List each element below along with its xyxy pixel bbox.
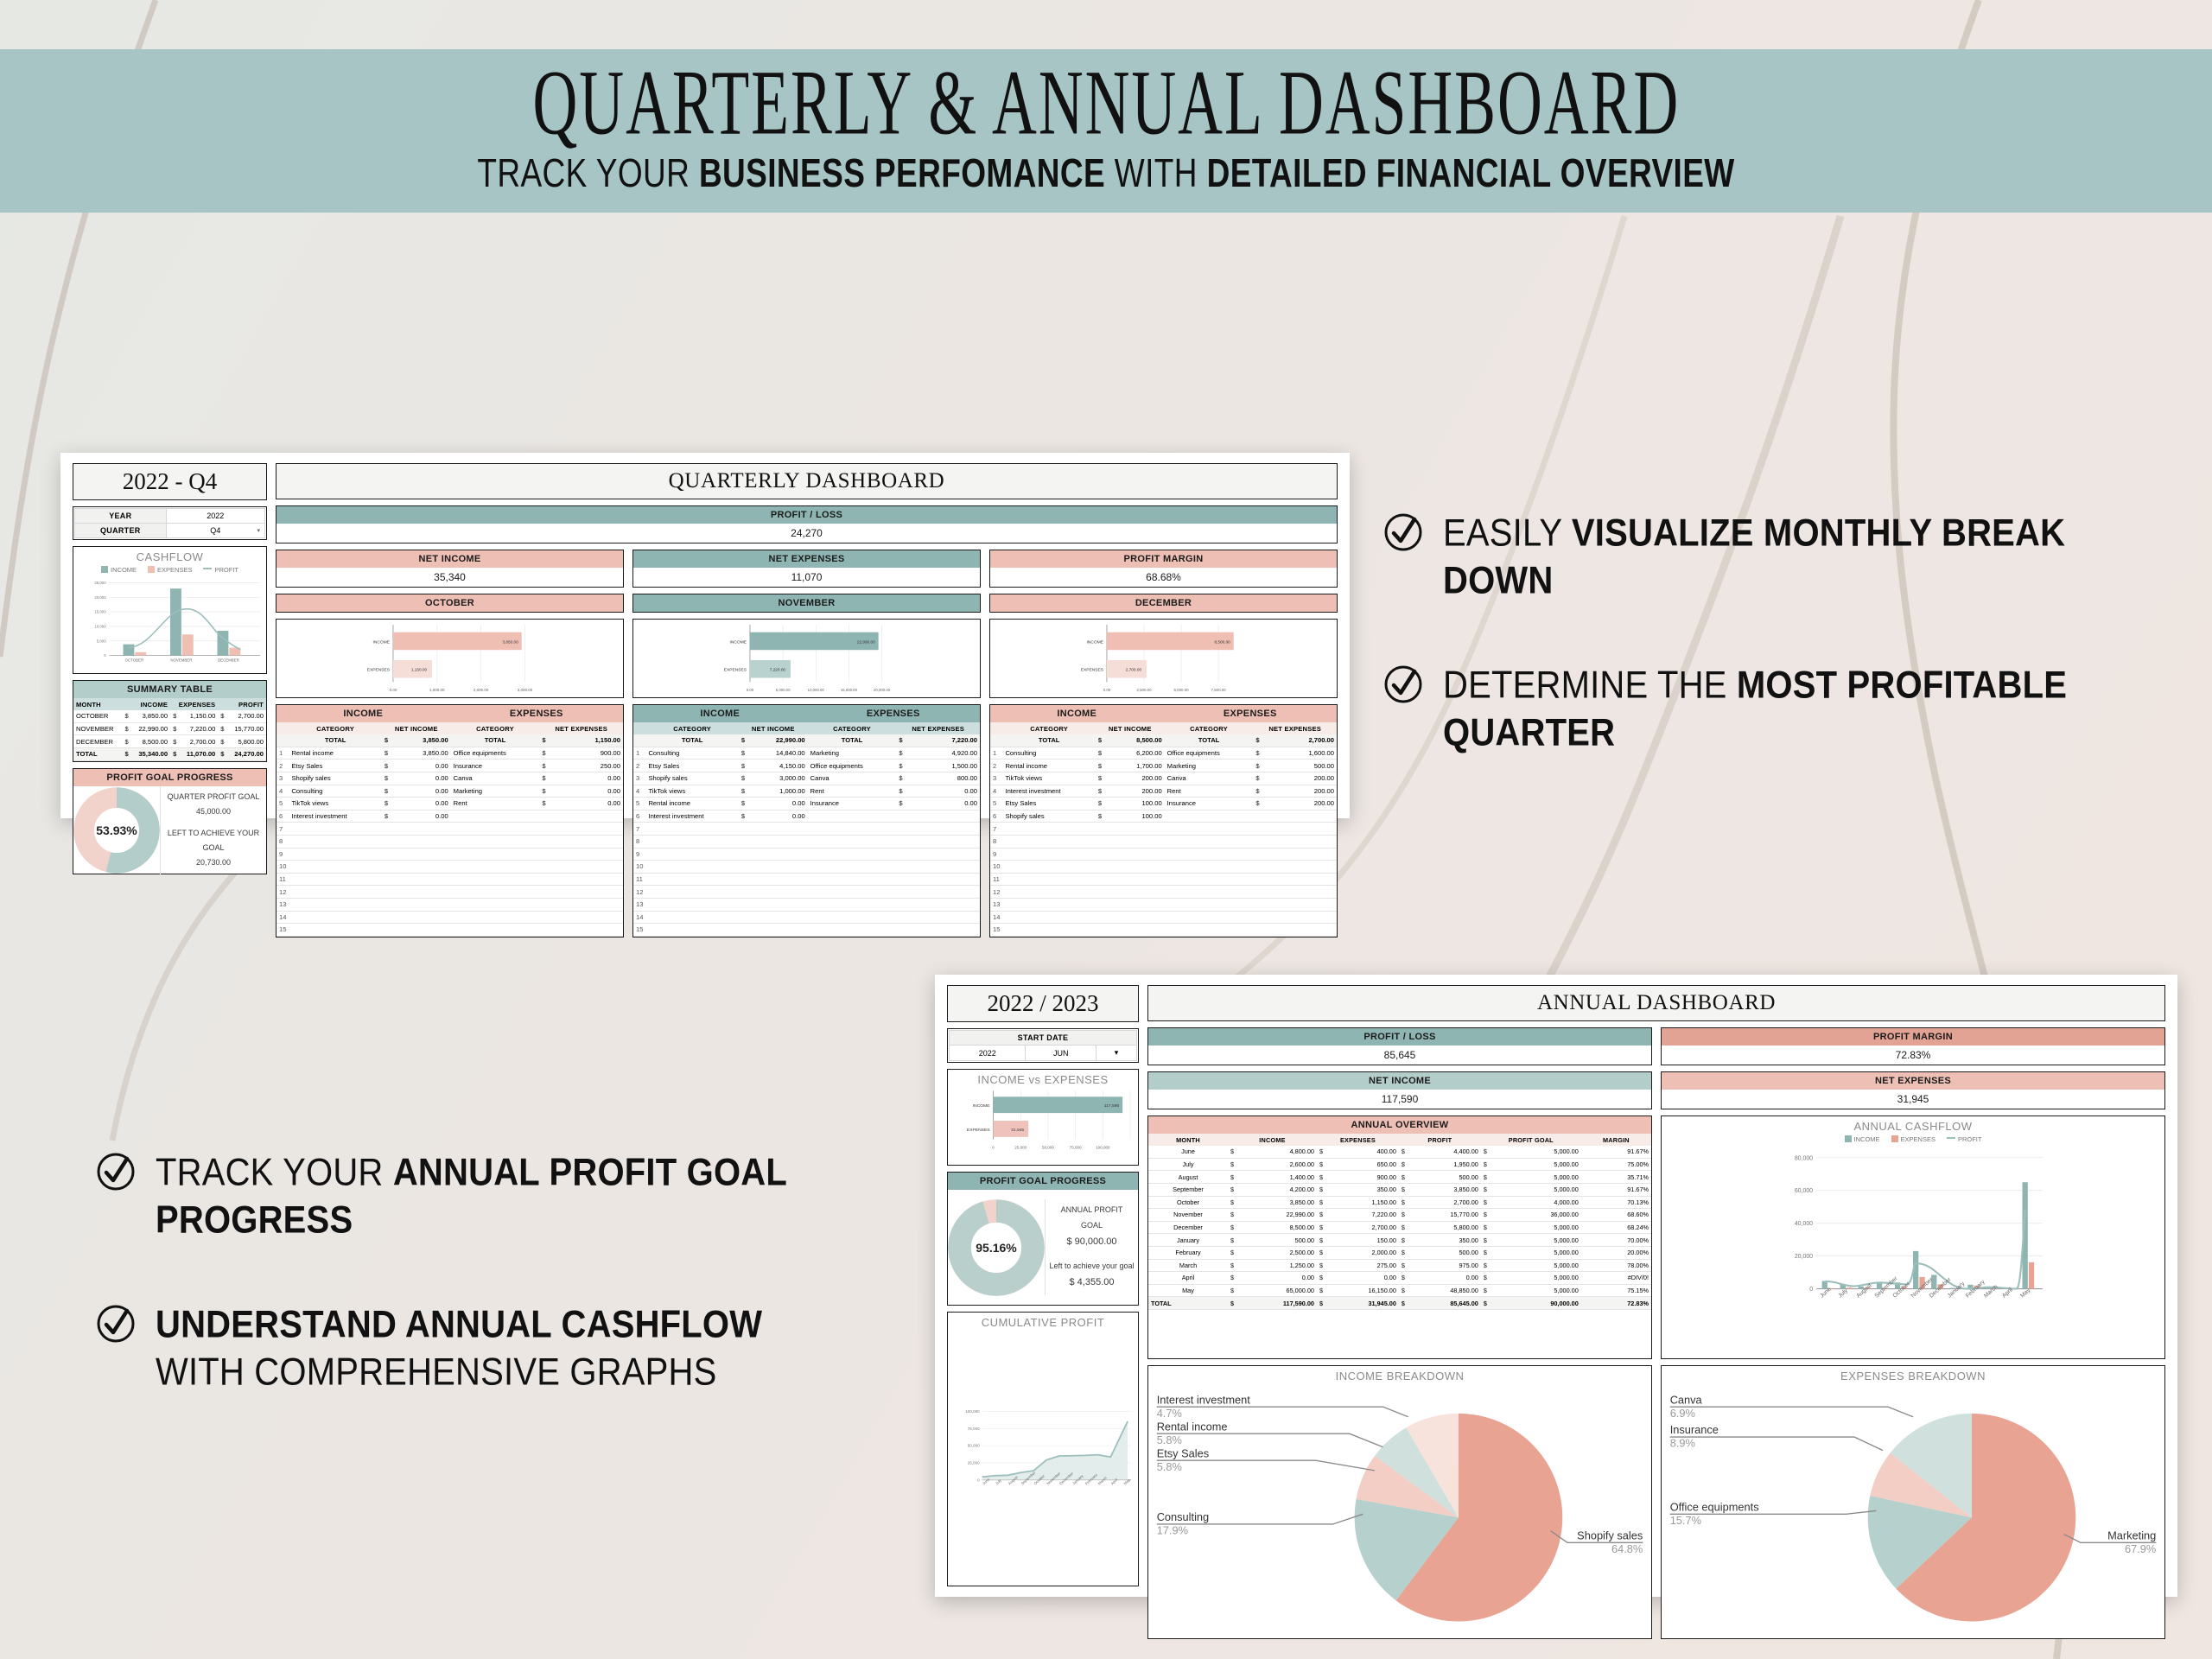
table-row: 8 [276, 835, 623, 848]
left-label: LEFT TO ACHIEVE YOUR GOAL [164, 826, 263, 855]
bullet-text: EASILY VISUALIZE MONTHLY BREAK DOWN [1443, 510, 2160, 604]
table-row: 13 [990, 898, 1337, 911]
income-header: INCOME [276, 705, 450, 722]
svg-text:5,000.00: 5,000.00 [1173, 688, 1189, 692]
annual-kpi-profit-loss-label: PROFIT / LOSS [1148, 1028, 1651, 1046]
table-row: 15 [276, 924, 623, 937]
kpi-net-income-label: NET INCOME [276, 550, 623, 568]
svg-text:10,000.00: 10,000.00 [808, 688, 825, 692]
bullet-profitable-quarter: DETERMINE THE MOST PROFITABLE QUARTER [1382, 662, 2160, 747]
table-row: 10 [633, 861, 980, 874]
annual-profit-goal-progress: PROFIT GOAL PROGRESS 95.16% ANNUAL PROFI… [947, 1172, 1139, 1306]
svg-text:0: 0 [104, 653, 106, 658]
svg-text:4.7%: 4.7% [1157, 1407, 1182, 1420]
pie-label-rental: Rental income [1157, 1420, 1228, 1433]
svg-text:0.00: 0.00 [1103, 688, 1111, 692]
pie-label-marketing: Marketing [2107, 1529, 2156, 1541]
annual-kpi-profit-loss-value: 85,645 [1148, 1046, 1651, 1065]
svg-text:5.8%: 5.8% [1157, 1460, 1182, 1473]
svg-text:7,220.00: 7,220.00 [770, 668, 786, 672]
annual-dashboard-panel: 2022 / 2023 START DATE 2022 JUN ▾ INCOME… [935, 975, 2177, 1597]
page-subtitle: TRACK YOUR BUSINESS PERFOMANCE WITH DETA… [477, 150, 1734, 196]
table-row: October$3,850.00$1,150.00$2,700.00$4,000… [1148, 1196, 1651, 1209]
november-bar-chart: INCOME EXPENSES 22,990.00 7,220.00 0.005… [632, 619, 981, 698]
table-row: 6Interest investment$0.00 [276, 810, 623, 823]
annual-left-value: $ 4,355.00 [1049, 1274, 1135, 1292]
table-row: OCTOBER $3,850.00 $1,150.00 $2,700.00 [73, 710, 266, 722]
legend-expenses: EXPENSES [148, 566, 192, 574]
annual-profit-goal-title: PROFIT GOAL PROGRESS [948, 1173, 1138, 1190]
kpi-profit-loss-value: 24,270 [276, 524, 1337, 543]
kpi-profit-loss: PROFIT / LOSS 24,270 [276, 505, 1338, 543]
bullet-visualize-monthly: EASILY VISUALIZE MONTHLY BREAK DOWN [1382, 510, 2160, 594]
income-header: INCOME [990, 705, 1164, 722]
bullet-text: TRACK YOUR ANNUAL PROFIT GOAL PROGRESS [156, 1149, 855, 1243]
profit-goal-percent: 53.93% [94, 808, 139, 853]
start-year-value[interactable]: 2022 [950, 1046, 1026, 1061]
month-detail-grid: CATEGORYNET INCOME CATEGORYNET EXPENSES … [633, 722, 980, 937]
table-row: May$65,000.00$16,150.00$48,850.00$5,000.… [1148, 1284, 1651, 1297]
svg-text:20,000.00: 20,000.00 [874, 688, 891, 692]
annual-goal-label: ANNUAL PROFIT GOAL [1049, 1203, 1135, 1232]
bullet-text: UNDERSTAND ANNUAL CASHFLOW WITH COMPREHE… [156, 1301, 855, 1395]
kpi-profit-margin-label: PROFIT MARGIN [990, 550, 1337, 568]
income-breakdown-title: INCOME BREAKDOWN [1148, 1366, 1651, 1382]
expenses-breakdown-chart: EXPENSES BREAKDOWN [1661, 1365, 2165, 1639]
table-row: DECEMBER $8,500.00 $2,700.00 $5,800.00 [73, 735, 266, 748]
kpi-net-income-value: 35,340 [276, 568, 623, 587]
table-row: 14 [276, 911, 623, 924]
col-expenses: EXPENSES [170, 698, 218, 710]
svg-text:20,000: 20,000 [1795, 1254, 1813, 1260]
quarter-value[interactable]: Q4 ▾ [166, 524, 264, 538]
annual-kpi-net-expenses-label: NET EXPENSES [1662, 1072, 2164, 1090]
table-row: March$1,250.00$275.00$975.00$5,000.0078.… [1148, 1259, 1651, 1272]
chevron-down-icon[interactable]: ▾ [1096, 1046, 1137, 1061]
kpi-net-income: NET INCOME 35,340 [276, 550, 624, 588]
expenses-breakdown-title: EXPENSES BREAKDOWN [1662, 1366, 2164, 1382]
table-row: 12 [276, 886, 623, 899]
feature-bullets-left: TRACK YOUR ANNUAL PROFIT GOAL PROGRESS U… [95, 1149, 855, 1433]
table-row: August$1,400.00$900.00$500.00$5,000.0035… [1148, 1171, 1651, 1184]
svg-text:50,000: 50,000 [1042, 1146, 1054, 1150]
quarterly-profit-goal-progress: PROFIT GOAL PROGRESS 53.93% QUARTER PROF… [73, 768, 267, 874]
svg-text:64.8%: 64.8% [1611, 1542, 1643, 1555]
annual-goal-value: $ 90,000.00 [1049, 1233, 1135, 1251]
svg-text:25,000: 25,000 [1014, 1146, 1027, 1150]
svg-text:31,945: 31,945 [1011, 1128, 1024, 1133]
annual-overview-grid: MONTH INCOME EXPENSES PROFIT PROFIT GOAL… [1148, 1134, 1651, 1310]
summary-table-grid: MONTH INCOME EXPENSES PROFIT OCTOBER $3,… [73, 698, 266, 761]
svg-text:117,590: 117,590 [1104, 1103, 1120, 1109]
kpi-net-expenses-value: 11,070 [633, 568, 980, 587]
svg-text:15,000.00: 15,000.00 [841, 688, 858, 692]
income-header: INCOME [633, 705, 807, 722]
svg-text:6.9%: 6.9% [1670, 1407, 1695, 1420]
svg-text:0.00: 0.00 [747, 688, 754, 692]
table-row: 3Shopify sales$0.00Canva$0.00 [276, 772, 623, 785]
svg-text:March: March [1983, 1284, 1999, 1300]
svg-text:5,000.00: 5,000.00 [776, 688, 791, 692]
table-row: 11 [633, 873, 980, 886]
left-value: 20,730.00 [164, 855, 263, 870]
check-circle-icon [95, 1151, 137, 1192]
cumulative-profit-chart: CUMULATIVE PROFIT 100,00075,000 50,00025… [947, 1312, 1139, 1586]
pie-label-shopify: Shopify sales [1577, 1529, 1643, 1541]
table-row: 12 [990, 886, 1337, 899]
col-profit: PROFIT [218, 698, 266, 710]
annual-period-label: 2022 / 2023 [947, 985, 1139, 1022]
svg-text:10,000: 10,000 [94, 625, 106, 629]
quarter-label: QUARTER [75, 524, 167, 538]
summary-table-title: SUMMARY TABLE [73, 681, 266, 698]
check-circle-icon [1382, 664, 1424, 705]
october-bar-chart: INCOME EXPENSES 3,850.00 1,150.00 0.001,… [276, 619, 624, 698]
table-row: 4TikTok views$1,000.00Rent$0.00 [633, 785, 980, 798]
svg-text:80,000: 80,000 [1795, 1155, 1813, 1161]
november-detail-table: INCOME EXPENSES CATEGORYNET INCOME CATEG… [632, 704, 981, 938]
svg-text:15.7%: 15.7% [1670, 1514, 1701, 1527]
annual-profit-goal-percent: 95.16% [971, 1222, 1021, 1272]
december-detail-table: INCOME EXPENSES CATEGORYNET INCOME CATEG… [989, 704, 1338, 938]
kpi-profit-loss-label: PROFIT / LOSS [276, 506, 1337, 524]
svg-text:5.8%: 5.8% [1157, 1433, 1182, 1446]
table-row: 2Rental income$1,700.00Marketing$500.00 [990, 760, 1337, 772]
table-row: 1Rental income$3,850.00Office equipments… [276, 747, 623, 760]
december-bar-chart: INCOME EXPENSES 8,500.00 2,700.00 0.002,… [989, 619, 1338, 698]
annual-cashflow-legend: INCOME EXPENSES PROFIT [1662, 1133, 2164, 1145]
expenses-header: EXPENSES [1164, 705, 1338, 722]
table-row: January$500.00$150.00$350.00$5,000.0070.… [1148, 1234, 1651, 1247]
svg-text:2,500.00: 2,500.00 [1136, 688, 1152, 692]
table-row: 2Etsy Sales$0.00Insurance$250.00 [276, 760, 623, 772]
svg-text:100,000: 100,000 [965, 1409, 980, 1414]
svg-text:EXPENSES: EXPENSES [1081, 668, 1104, 673]
table-row: November$22,990.00$7,220.00$15,770.00$36… [1148, 1209, 1651, 1222]
feature-bullets-right: EASILY VISUALIZE MONTHLY BREAK DOWN DETE… [1382, 510, 2160, 794]
svg-text:7,500.00: 7,500.00 [1211, 688, 1227, 692]
table-row: 9 [633, 848, 980, 861]
expenses-header: EXPENSES [450, 705, 624, 722]
svg-text:3,000.00: 3,000.00 [518, 688, 533, 692]
month-header-october: OCTOBER [276, 594, 624, 613]
subtitle-bold-2: DETAILED FINANCIAL OVERVIEW [1207, 150, 1735, 194]
table-row: December$8,500.00$2,700.00$5,800.00$5,00… [1148, 1221, 1651, 1234]
bar-cat-income: INCOME [373, 639, 391, 645]
annual-profit-goal-details: ANNUAL PROFIT GOAL $ 90,000.00 Left to a… [1045, 1199, 1138, 1294]
table-row: 14 [633, 911, 980, 924]
table-row: June$4,800.00$400.00$4,400.00$5,000.0091… [1148, 1146, 1651, 1158]
svg-text:20,000: 20,000 [94, 595, 106, 600]
table-row: 8 [633, 835, 980, 848]
expenses-header: EXPENSES [807, 705, 981, 722]
annual-kpi-profit-margin-value: 72.83% [1662, 1046, 2164, 1065]
svg-text:15,000: 15,000 [94, 610, 106, 614]
table-row: 4Interest investment$200.00Rent$200.00 [990, 785, 1337, 798]
kpi-net-expenses-label: NET EXPENSES [633, 550, 980, 568]
table-row: 5Rental income$0.00Insurance$0.00 [633, 798, 980, 810]
table-row: 3TikTok views$200.00Canva$200.00 [990, 772, 1337, 785]
svg-text:50,000: 50,000 [968, 1444, 980, 1448]
annual-overview-table: ANNUAL OVERVIEW MONTH INCOME EXPENSES PR… [1147, 1116, 1652, 1359]
legend-expenses: EXPENSES [1891, 1135, 1935, 1143]
annual-cashflow-chart: ANNUAL CASHFLOW INCOME EXPENSES PROFIT [1661, 1116, 2165, 1359]
bar-label-expenses: 1,150.00 [411, 668, 428, 672]
bullet-annual-goal-progress: TRACK YOUR ANNUAL PROFIT GOAL PROGRESS [95, 1149, 855, 1234]
table-row: September$4,200.00$350.00$3,850.00$5,000… [1148, 1183, 1651, 1196]
profit-goal-details: QUARTER PROFIT GOAL 45,000.00 LEFT TO AC… [160, 786, 266, 874]
svg-text:EXPENSES: EXPENSES [724, 668, 747, 673]
table-row: 6Shopify sales$100.00 [990, 810, 1337, 823]
annual-dashboard-title: ANNUAL DASHBOARD [1147, 985, 2165, 1021]
month-header-november: NOVEMBER [632, 594, 981, 613]
svg-text:DECEMBER: DECEMBER [218, 658, 239, 663]
october-detail-table: INCOME EXPENSES CATEGORYNET INCOME CATEG… [276, 704, 624, 938]
table-total-row: TOTAL $35,340.00 $11,070.00 $24,270.00 [73, 747, 266, 760]
cashflow-chart-title: CASHFLOW [73, 547, 266, 563]
subtitle-part-1: TRACK YOUR [477, 150, 699, 194]
quarterly-selector[interactable]: YEAR 2022 QUARTER Q4 ▾ [73, 506, 267, 540]
svg-text:8.9%: 8.9% [1670, 1437, 1695, 1450]
quarter-value-text: Q4 [210, 526, 220, 535]
svg-text:0: 0 [977, 1478, 980, 1482]
annual-profit-goal-donut: 95.16% [948, 1199, 1045, 1296]
table-row: 9 [276, 848, 623, 861]
check-circle-icon [1382, 512, 1424, 553]
start-date-label: START DATE [950, 1031, 1137, 1046]
quarterly-dashboard-title: QUARTERLY DASHBOARD [276, 463, 1338, 499]
bullet-text: DETERMINE THE MOST PROFITABLE QUARTER [1443, 662, 2160, 756]
table-row: 1Consulting$6,200.00Office equipments$1,… [990, 747, 1337, 760]
annual-kpi-net-income: NET INCOME 117,590 [1147, 1071, 1652, 1109]
svg-text:1,000.00: 1,000.00 [429, 688, 445, 692]
table-row: 11 [990, 873, 1337, 886]
income-vs-expenses-chart: INCOME vs EXPENSES INCOME EXPENSES 117,5… [947, 1069, 1139, 1166]
annual-cashflow-title: ANNUAL CASHFLOW [1662, 1116, 2164, 1133]
col-month: MONTH [73, 698, 122, 710]
year-label: YEAR [75, 509, 167, 524]
svg-text:OCTOBER: OCTOBER [125, 658, 143, 663]
bar-cat-expenses: EXPENSES [367, 668, 391, 673]
income-breakdown-chart: INCOME BREAKDOWN [1147, 1365, 1652, 1639]
annual-kpi-profit-loss: PROFIT / LOSS 85,645 [1147, 1027, 1652, 1065]
table-row: 5TikTok views$0.00Rent$0.00 [276, 798, 623, 810]
annual-kpi-profit-margin-label: PROFIT MARGIN [1662, 1028, 2164, 1046]
table-row: 7 [276, 823, 623, 836]
svg-text:22,990.00: 22,990.00 [857, 639, 875, 644]
svg-text:June: June [1819, 1286, 1833, 1299]
pie-label-interest: Interest investment [1157, 1393, 1251, 1406]
svg-text:5,000: 5,000 [97, 639, 106, 643]
col-income: INCOME [122, 698, 170, 710]
svg-text:2,700.00: 2,700.00 [1126, 668, 1142, 672]
pie-label-insurance: Insurance [1670, 1423, 1719, 1436]
svg-text:100,000: 100,000 [1096, 1146, 1110, 1150]
quarterly-dashboard-panel: 2022 - Q4 YEAR 2022 QUARTER Q4 ▾ [60, 453, 1350, 818]
legend-profit: PROFIT [203, 566, 238, 574]
svg-text:INCOME: INCOME [1087, 639, 1104, 645]
annual-left-label: Left to achieve your goal [1049, 1259, 1135, 1274]
legend-income: INCOME [101, 566, 137, 574]
legend-profit: PROFIT [1947, 1135, 1982, 1143]
svg-text:75,000: 75,000 [1070, 1146, 1082, 1150]
subtitle-bold-1: BUSINESS PERFOMANCE [699, 150, 1105, 194]
table-row: 1Consulting$14,840.00Marketing$4,920.00 [633, 747, 980, 760]
goal-value: 45,000.00 [164, 804, 263, 819]
pie-label-canva: Canva [1670, 1393, 1703, 1406]
svg-text:75,000: 75,000 [968, 1427, 980, 1431]
table-row: 12 [633, 886, 980, 899]
kpi-profit-margin-value: 68.68% [990, 568, 1337, 587]
table-row: July$2,600.00$650.00$1,950.00$5,000.0075… [1148, 1158, 1651, 1171]
table-row: 2Etsy Sales$4,150.00Office equipments$1,… [633, 760, 980, 772]
kpi-profit-margin: PROFIT MARGIN 68.68% [989, 550, 1338, 588]
table-row: 3Shopify sales$3,000.00Canva$800.00 [633, 772, 980, 785]
cashflow-legend: INCOME EXPENSES PROFIT [73, 563, 266, 575]
table-row: 7 [990, 823, 1337, 836]
month-detail-grid: CATEGORYNET INCOME CATEGORYNET EXPENSES … [990, 722, 1337, 937]
annual-kpi-net-expenses: NET EXPENSES 31,945 [1661, 1071, 2165, 1109]
expenses-breakdown-svg: Canva 6.9% Insurance 8.9% Office equipme… [1662, 1382, 2164, 1636]
cumulative-profit-title: CUMULATIVE PROFIT [948, 1313, 1138, 1329]
svg-text:EXPENSES: EXPENSES [967, 1128, 990, 1133]
table-row: NOVEMBER $22,990.00 $7,220.00 $15,770.00 [73, 722, 266, 735]
quarterly-cashflow-chart: CASHFLOW INCOME EXPENSES PROFIT 25,00020… [73, 546, 267, 674]
pie-label-office: Office equipments [1670, 1500, 1759, 1513]
svg-text:25,000: 25,000 [94, 581, 106, 585]
table-row: 4Consulting$0.00Marketing$0.00 [276, 785, 623, 798]
table-row: April$0.00$0.00$0.00$5,000.00#DIV/0! [1148, 1272, 1651, 1285]
svg-text:NOVEMBER: NOVEMBER [170, 658, 192, 663]
table-row: 14 [990, 911, 1337, 924]
chevron-down-icon[interactable]: ▾ [257, 527, 260, 534]
annual-kpi-net-income-value: 117,590 [1148, 1090, 1651, 1109]
legend-income: INCOME [1845, 1135, 1880, 1143]
quarterly-period-label: 2022 - Q4 [73, 463, 267, 500]
year-value[interactable]: 2022 [166, 509, 264, 524]
pie-label-etsy: Etsy Sales [1157, 1446, 1209, 1459]
svg-text:INCOME: INCOME [973, 1103, 990, 1109]
table-total-row: TOTAL$117,590.00$31,945.00$85,645.00$90,… [1148, 1297, 1651, 1310]
pie-label-consulting: Consulting [1157, 1510, 1209, 1523]
income-vs-expenses-title: INCOME vs EXPENSES [948, 1070, 1138, 1086]
income-breakdown-svg: Interest investment 4.7% Rental income 5… [1148, 1382, 1651, 1636]
annual-selector[interactable]: START DATE 2022 JUN ▾ [947, 1028, 1139, 1063]
table-row: 13 [276, 898, 623, 911]
table-row: 15 [633, 924, 980, 937]
table-row: 10 [990, 861, 1337, 874]
profit-goal-donut: 53.93% [73, 787, 160, 874]
page-title: QUARTERLY & ANNUAL DASHBOARD [532, 55, 1680, 154]
annual-cashflow-svg: 80,00060,000 40,00020,0000 [1662, 1145, 2164, 1347]
table-row: 11 [276, 873, 623, 886]
table-row: 5Etsy Sales$100.00Insurance$200.00 [990, 798, 1337, 810]
svg-text:60,000: 60,000 [1795, 1188, 1813, 1194]
svg-text:0.00: 0.00 [390, 688, 397, 692]
table-row: 7 [633, 823, 980, 836]
annual-kpi-net-expenses-value: 31,945 [1662, 1090, 2164, 1109]
svg-text:40,000: 40,000 [1795, 1221, 1813, 1227]
svg-text:0: 0 [992, 1146, 995, 1150]
month-header-december: DECEMBER [989, 594, 1338, 613]
svg-text:8,500.00: 8,500.00 [1215, 639, 1231, 644]
annual-overview-title: ANNUAL OVERVIEW [1148, 1116, 1651, 1134]
page-header: QUARTERLY & ANNUAL DASHBOARD TRACK YOUR … [0, 49, 2212, 213]
check-circle-icon [95, 1303, 137, 1344]
subtitle-part-2: WITH [1105, 150, 1206, 194]
annual-kpi-net-income-label: NET INCOME [1148, 1072, 1651, 1090]
svg-text:2,000.00: 2,000.00 [474, 688, 489, 692]
table-row: 10 [276, 861, 623, 874]
table-row: 8 [990, 835, 1337, 848]
table-row: 13 [633, 898, 980, 911]
svg-text:17.9%: 17.9% [1157, 1524, 1188, 1537]
annual-kpi-profit-margin: PROFIT MARGIN 72.83% [1661, 1027, 2165, 1065]
table-row: 15 [990, 924, 1337, 937]
bullet-annual-cashflow: UNDERSTAND ANNUAL CASHFLOW WITH COMPREHE… [95, 1301, 855, 1386]
table-row: 9 [990, 848, 1337, 861]
svg-text:0: 0 [1809, 1287, 1813, 1293]
start-month-value[interactable]: JUN [1026, 1046, 1096, 1061]
kpi-net-expenses: NET EXPENSES 11,070 [632, 550, 981, 588]
svg-text:25,000: 25,000 [968, 1461, 980, 1465]
table-row: 6Interest investment$0.00 [633, 810, 980, 823]
svg-text:INCOME: INCOME [730, 639, 747, 645]
month-detail-grid: CATEGORYNET INCOME CATEGORYNET EXPENSES … [276, 722, 623, 937]
goal-label: QUARTER PROFIT GOAL [164, 790, 263, 804]
table-row: February$2,500.00$2,000.00$500.00$5,000.… [1148, 1246, 1651, 1259]
cashflow-svg: 25,00020,000 15,00010,000 5,0000 OCTOBER… [73, 575, 266, 669]
profit-goal-title: PROFIT GOAL PROGRESS [73, 769, 266, 786]
bar-label-income: 3,850.00 [502, 639, 518, 644]
svg-text:67.9%: 67.9% [2125, 1542, 2156, 1555]
quarterly-summary-table: SUMMARY TABLE MONTH INCOME EXPENSES PROF… [73, 680, 267, 762]
